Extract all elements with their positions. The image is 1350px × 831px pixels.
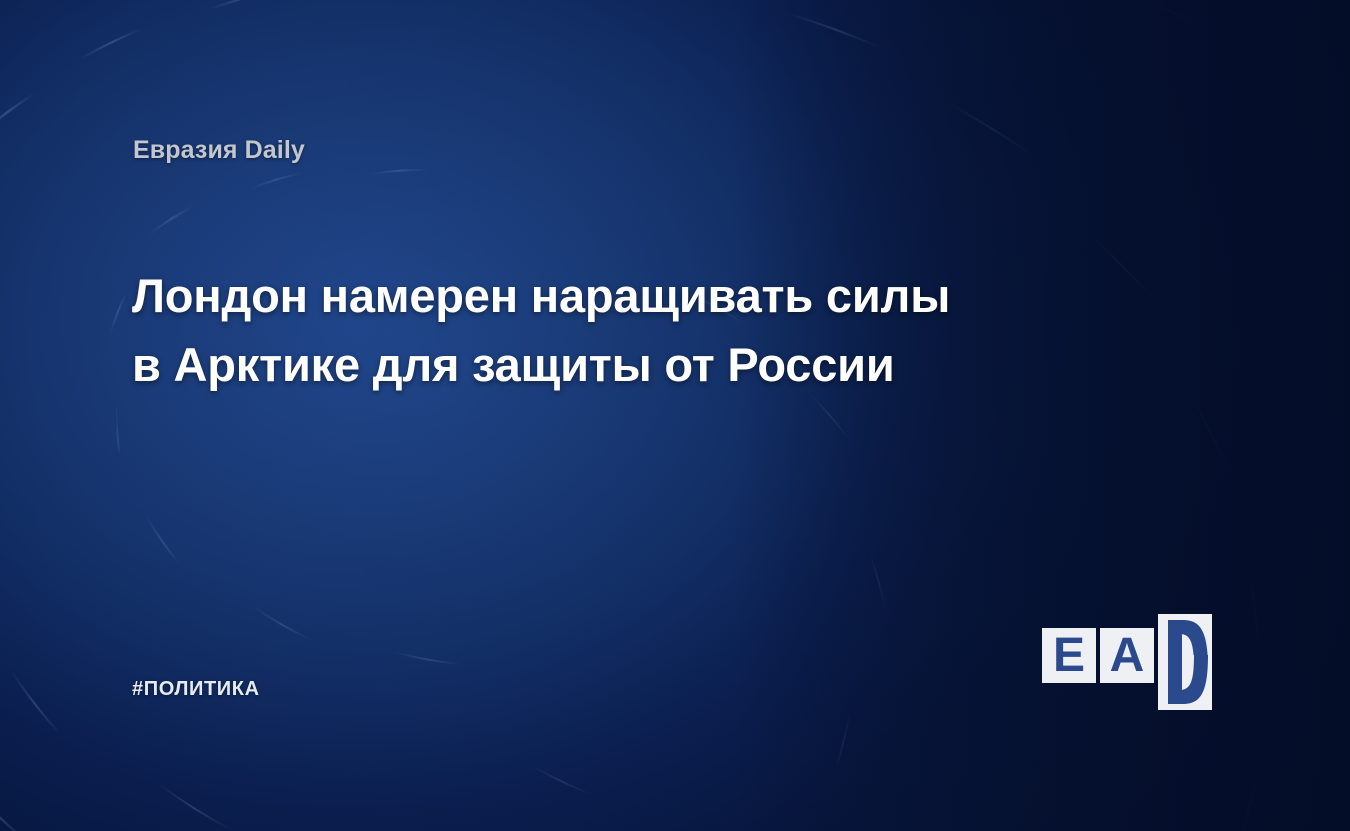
brand-title: Евразия Daily — [133, 136, 305, 165]
logo-letter-a: A — [1100, 628, 1154, 683]
logo-letter-d-lower-half — [1158, 655, 1212, 710]
logo-tile-e: E — [1042, 628, 1096, 683]
background-right-shade — [729, 0, 1350, 831]
logo-tile-a: A — [1100, 628, 1154, 683]
news-card: Евразия Daily Лондон намерен наращивать … — [0, 0, 1350, 831]
headline-line-2: в Арктике для защиты от России — [132, 331, 1132, 400]
logo-letter-e: E — [1042, 628, 1096, 683]
logo-tile-d-bottom — [1158, 655, 1212, 710]
eadaily-logo[interactable]: E A — [1042, 614, 1222, 714]
headline-line-1: Лондон намерен наращивать силы — [132, 262, 1132, 331]
category-tag[interactable]: #ПОЛИТИКА — [132, 678, 260, 701]
page-title: Лондон намерен наращивать силы в Арктике… — [132, 262, 1132, 399]
